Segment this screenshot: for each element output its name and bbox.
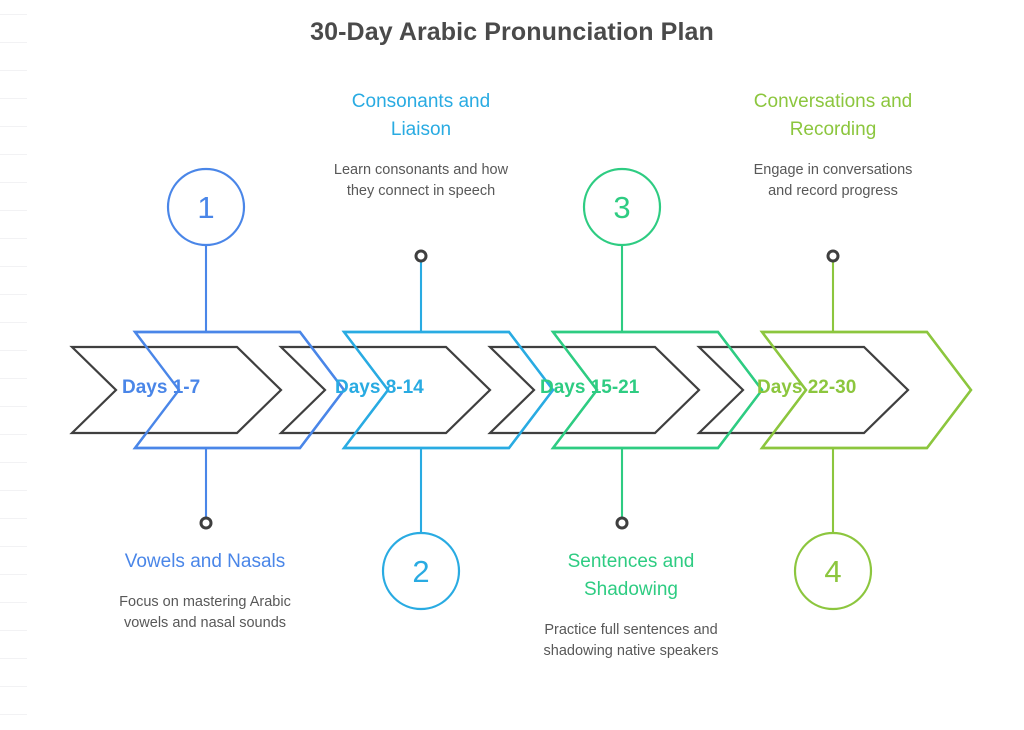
- endpoint-marker-step-3: [617, 518, 627, 528]
- step-description-3: Practice full sentences and shadowing na…: [536, 620, 726, 662]
- step-description-4: Engage in conversations and record progr…: [742, 160, 924, 202]
- step-heading-2: Consonants and Liaison: [330, 88, 512, 144]
- step-heading-4: Conversations and Recording: [742, 88, 924, 144]
- page-title: 30-Day Arabic Pronunciation Plan: [0, 18, 1024, 47]
- endpoint-marker-step-1: [201, 518, 211, 528]
- band-label-step-4: Days 22-30: [757, 377, 856, 399]
- step-text-block-3: Sentences and ShadowingPractice full sen…: [536, 548, 726, 662]
- step-heading-3: Sentences and Shadowing: [536, 548, 726, 604]
- band-label-step-3: Days 15-21: [540, 377, 639, 399]
- endpoint-marker-step-4: [828, 251, 838, 261]
- infographic-canvas: 1234 30-Day Arabic Pronunciation Plan Da…: [0, 0, 1024, 730]
- step-text-block-2: Consonants and LiaisonLearn consonants a…: [330, 88, 512, 202]
- step-number-4: 4: [824, 554, 841, 589]
- step-number-2: 2: [412, 554, 429, 589]
- step-description-1: Focus on mastering Arabic vowels and nas…: [110, 592, 300, 634]
- step-description-2: Learn consonants and how they connect in…: [330, 160, 512, 202]
- step-number-3: 3: [613, 190, 630, 225]
- endpoint-marker-step-2: [416, 251, 426, 261]
- step-text-block-1: Vowels and NasalsFocus on mastering Arab…: [110, 548, 300, 634]
- band-label-step-2: Days 8-14: [335, 377, 424, 399]
- step-text-block-4: Conversations and RecordingEngage in con…: [742, 88, 924, 202]
- step-number-1: 1: [197, 190, 214, 225]
- band-label-step-1: Days 1-7: [122, 377, 200, 399]
- step-heading-1: Vowels and Nasals: [110, 548, 300, 576]
